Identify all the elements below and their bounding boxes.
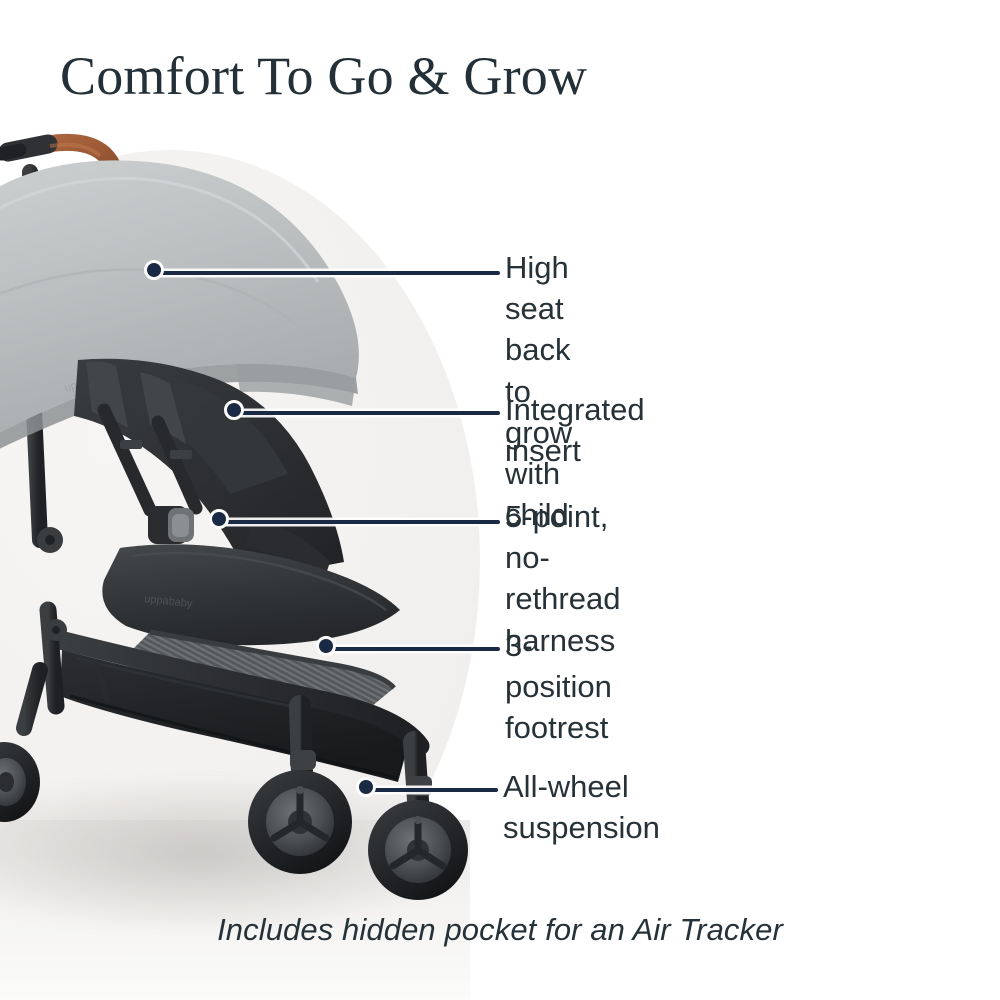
infographic-canvas: uppababy	[0, 0, 1000, 1000]
leader-line	[360, 788, 498, 792]
leader-line	[148, 271, 500, 275]
callout-dot	[316, 636, 336, 656]
wheel-front-right	[368, 800, 468, 900]
page-title: Comfort To Go & Grow	[60, 48, 587, 105]
leader-line	[213, 520, 500, 524]
leader-line	[320, 647, 500, 651]
callout-label-all-wheel-suspension: All-wheel suspension	[503, 766, 660, 848]
callout-dot	[209, 509, 229, 529]
callout-dot	[144, 260, 164, 280]
callout-dot	[356, 777, 376, 797]
wheel-front-left	[248, 770, 352, 874]
suspension-collar-right	[406, 776, 432, 796]
footer-caption: Includes hidden pocket for an Air Tracke…	[0, 912, 1000, 948]
harness-buckle	[148, 506, 194, 544]
callout-label-integrated-insert: Integrated insert	[505, 389, 645, 471]
suspension-collar-left	[290, 750, 316, 770]
rear-leg	[24, 670, 40, 728]
wheel-rear-left	[0, 742, 40, 822]
callout-label-three-position-footrest: 3-position footrest	[505, 625, 612, 749]
leader-line	[228, 411, 500, 415]
seat-cushion: uppababy	[102, 544, 400, 645]
callout-dot	[224, 400, 244, 420]
